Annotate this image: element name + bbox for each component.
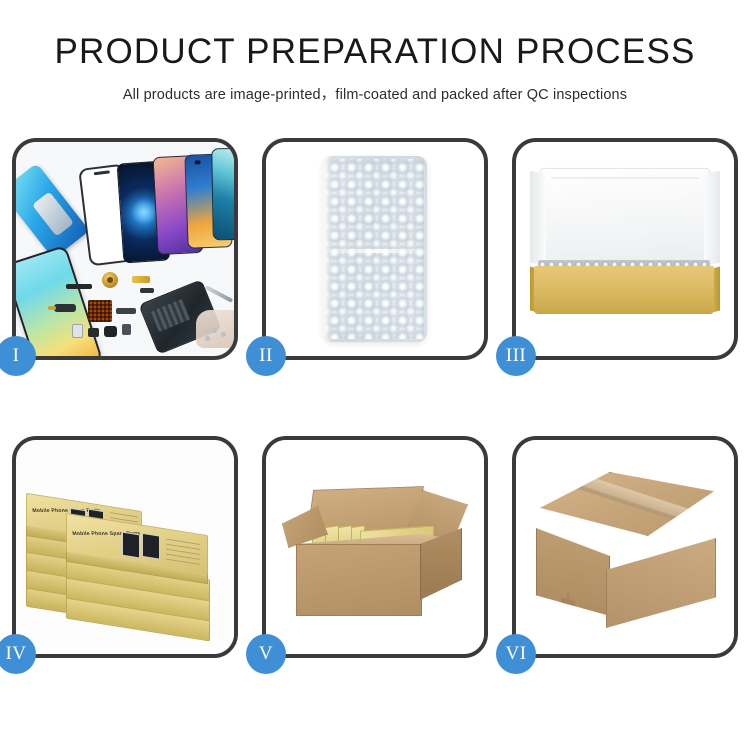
- sim-tray-part: [72, 324, 83, 338]
- step-panel-1: I: [12, 138, 238, 360]
- retail-box-stack: Mobile Phone Spare Parts Mobile Phone Sp…: [24, 468, 224, 628]
- step-badge-6: VI: [496, 634, 536, 674]
- carton-handle-notch: [561, 597, 575, 612]
- punch-hole-icon: [195, 160, 201, 164]
- camera-module-part: [88, 328, 99, 337]
- step-image-6: [516, 440, 734, 654]
- page-subtitle: All products are image-printed，film-coat…: [0, 83, 750, 104]
- package-edge-highlight: [323, 156, 332, 342]
- step-image-3: [516, 142, 734, 356]
- carton-top-face: [540, 472, 714, 536]
- step-badge-1: I: [0, 336, 36, 376]
- box-screen-image: [142, 533, 160, 560]
- kraft-box-tray: [534, 266, 714, 314]
- step-panel-3: III: [512, 138, 738, 360]
- copper-mesh-part: [88, 300, 112, 322]
- screw-part: [221, 332, 226, 337]
- step-image-5: [266, 440, 484, 654]
- step-badge-3: III: [496, 336, 536, 376]
- screw-part: [212, 328, 217, 333]
- step-panel-2: II: [262, 138, 488, 360]
- carton-right-face: [606, 538, 716, 628]
- vibrator-module-part: [104, 326, 117, 337]
- step-image-4: Mobile Phone Spare Parts Mobile Phone Sp…: [16, 440, 234, 654]
- steps-grid: I II: [12, 138, 738, 658]
- package-seam: [323, 249, 427, 253]
- carton-left-face: [536, 522, 610, 616]
- flex-cable-dark: [140, 288, 154, 293]
- open-shipping-carton: [288, 482, 464, 618]
- flex-ribbon-part: [116, 308, 136, 314]
- step-badge-2: II: [246, 336, 286, 376]
- flex-cable-gold: [132, 276, 150, 283]
- box-lid-flap-left: [530, 171, 546, 265]
- notch-icon: [94, 170, 110, 175]
- step-image-1: [16, 142, 234, 356]
- step-image-2: [266, 142, 484, 356]
- page-title: PRODUCT PREPARATION PROCESS: [0, 33, 750, 72]
- copper-coil-part: [102, 272, 118, 288]
- header: PRODUCT PREPARATION PROCESS All products…: [0, 0, 750, 104]
- speaker-strip-part: [66, 284, 92, 289]
- carton-handle-notch: [561, 649, 575, 654]
- step-badge-5: V: [246, 634, 286, 674]
- phone-screen-teal-wallpaper: [211, 148, 234, 241]
- step-panel-4: Mobile Phone Spare Parts Mobile Phone Sp…: [12, 436, 238, 658]
- bubble-wrap-package: [323, 156, 427, 342]
- box-lid-white: [540, 168, 710, 274]
- packing-tape-edge: [566, 481, 702, 529]
- product-preparation-infographic: PRODUCT PREPARATION PROCESS All products…: [0, 0, 750, 750]
- box-lid-flap-right: [704, 171, 720, 265]
- box-screen-image: [122, 532, 140, 559]
- button-module-part: [122, 324, 131, 335]
- carton-front-face: [296, 544, 422, 616]
- step-panel-6: VI: [512, 436, 738, 658]
- screw-part: [205, 336, 210, 341]
- flex-cable-connector: [54, 304, 76, 312]
- sealed-shipping-carton: [536, 472, 718, 628]
- step-badge-4: IV: [0, 634, 36, 674]
- packing-tape: [559, 468, 708, 527]
- step-panel-5: V: [262, 436, 488, 658]
